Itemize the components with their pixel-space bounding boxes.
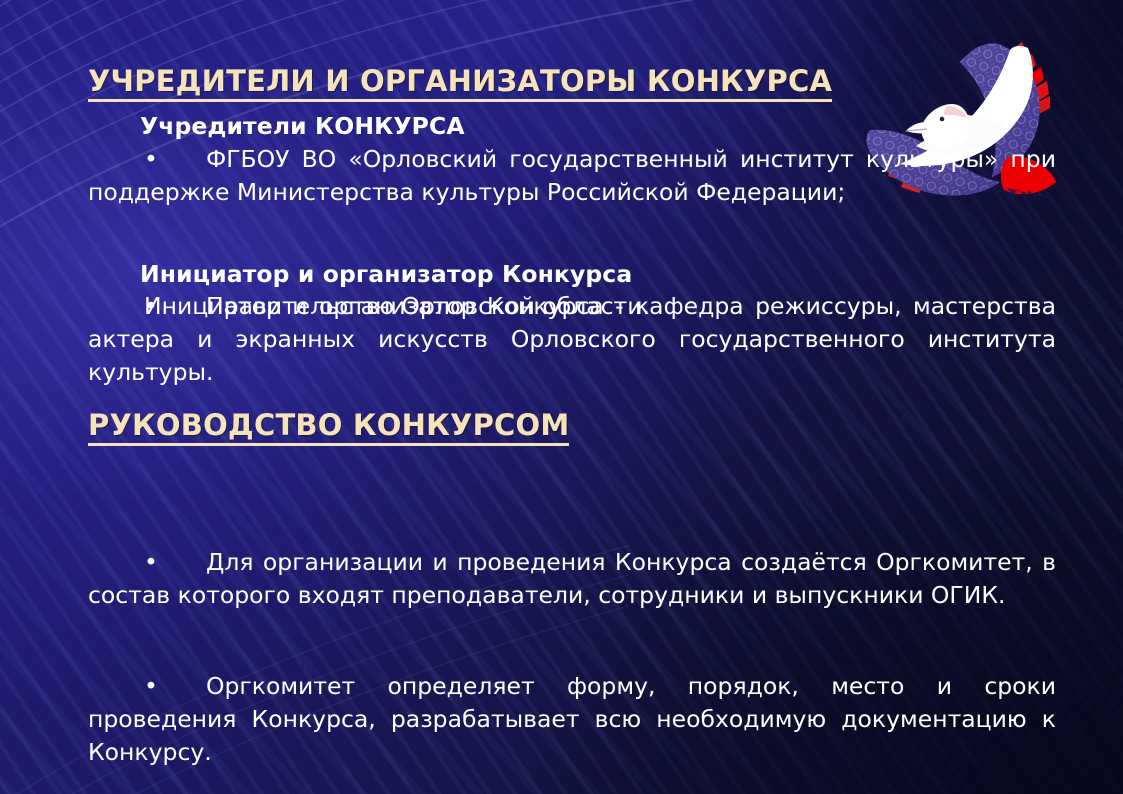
list-item-management-1-text: Для организации и проведения Конкурса со… [88,548,1056,609]
list-item-management-1: •Для организации и проведения Конкурса с… [88,546,1056,612]
page-title-management: РУКОВОДСТВО КОНКУРСОМ [88,408,569,446]
page-title-management-text: РУКОВОДСТВО КОНКУРСОМ [88,408,569,446]
list-item-management-1-paragraph: •Для организации и проведения Конкурса с… [88,546,1056,612]
subheading-initiator-text: Инициатор и организатор Конкурса [140,258,1108,291]
list-item-management-2-paragraph: •Оргкомитет определяет форму, порядок, м… [88,670,1056,769]
paragraph-initiator-body-text: Инициатор и организатор Конкурса - кафед… [88,290,1056,389]
list-item-management-2-text: Оргкомитет определяет форму, порядок, ме… [88,672,1056,766]
list-item-founder-1-paragraph: •ФГБОУ ВО «Орловский государственный инс… [88,143,1056,209]
slide: УЧРЕДИТЕЛИ И ОРГАНИЗАТОРЫ КОНКУРСА Учред… [0,0,1123,794]
list-item-management-2: •Оргкомитет определяет форму, порядок, м… [88,670,1056,769]
paragraph-initiator-body: Инициатор и организатор Конкурса - кафед… [88,290,1056,389]
page-title-founders-text: УЧРЕДИТЕЛИ И ОРГАНИЗАТОРЫ КОНКУРСА [88,64,832,102]
list-item-founder-1: •ФГБОУ ВО «Орловский государственный инс… [88,143,1056,209]
subheading-founders: Учредители КОНКУРСА [88,110,1108,143]
bullet-glyph: • [88,670,206,703]
bullet-glyph: • [88,143,206,176]
subheading-initiator: Инициатор и организатор Конкурса [88,258,1108,291]
page-title-founders: УЧРЕДИТЕЛИ И ОРГАНИЗАТОРЫ КОНКУРСА [88,64,832,102]
list-item-founder-1-text: ФГБОУ ВО «Орловский государственный инст… [88,145,1056,206]
bullet-glyph: • [88,546,206,579]
subheading-founders-text: Учредители КОНКУРСА [140,110,1108,143]
slide-content: УЧРЕДИТЕЛИ И ОРГАНИЗАТОРЫ КОНКУРСА Учред… [0,0,1123,794]
